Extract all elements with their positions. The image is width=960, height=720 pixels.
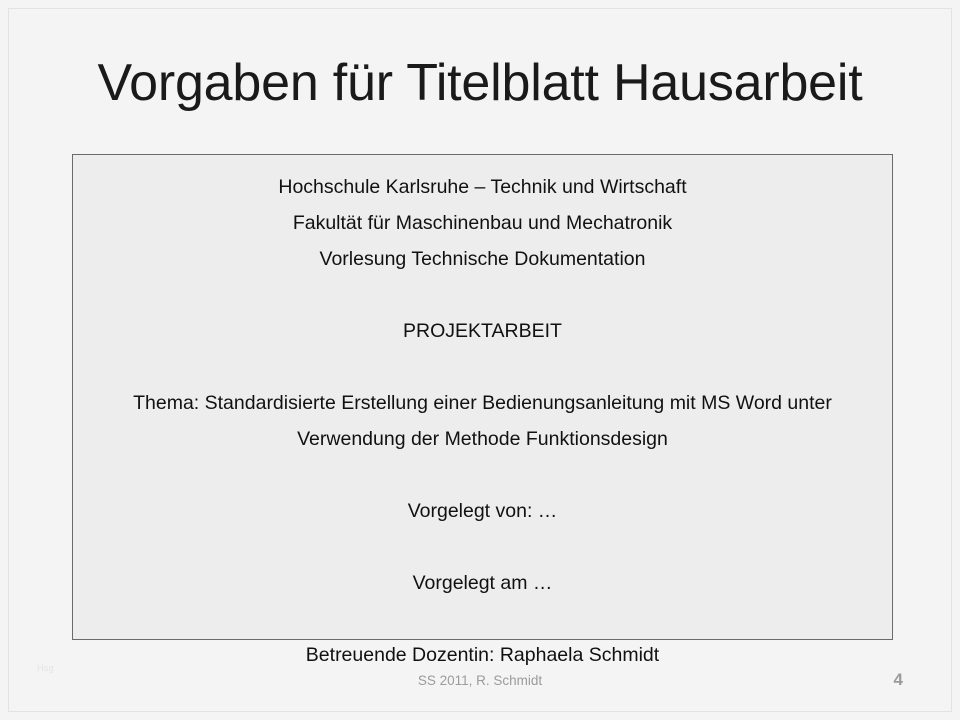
footer-course-info: SS 2011, R. Schmidt (9, 673, 951, 688)
footer-watermark-text: Hsg (37, 663, 54, 673)
content-line-document-type: PROJEKTARBEIT (89, 313, 876, 349)
slide-footer: Hsg SS 2011, R. Schmidt 4 (9, 659, 951, 711)
content-line-topic: Thema: Standardisierte Erstellung einer … (89, 385, 876, 457)
content-line-spacer-5 (89, 601, 876, 637)
content-line-spacer-3 (89, 457, 876, 493)
title-page-specification-box: Hochschule Karlsruhe – Technik und Wirts… (72, 154, 893, 640)
presentation-slide: Vorgaben für Titelblatt Hausarbeit Hochs… (0, 0, 960, 720)
content-line-spacer-4 (89, 529, 876, 565)
content-line-course: Vorlesung Technische Dokumentation (89, 241, 876, 277)
content-line-faculty: Fakultät für Maschinenbau und Mechatroni… (89, 205, 876, 241)
content-line-institution: Hochschule Karlsruhe – Technik und Wirts… (89, 169, 876, 205)
content-line-submitted-by: Vorgelegt von: … (89, 493, 876, 529)
content-line-spacer-1 (89, 277, 876, 313)
footer-page-number: 4 (894, 670, 903, 690)
content-line-spacer-2 (89, 349, 876, 385)
page-title: Vorgaben für Titelblatt Hausarbeit (40, 52, 920, 114)
content-line-submitted-on: Vorgelegt am … (89, 565, 876, 601)
